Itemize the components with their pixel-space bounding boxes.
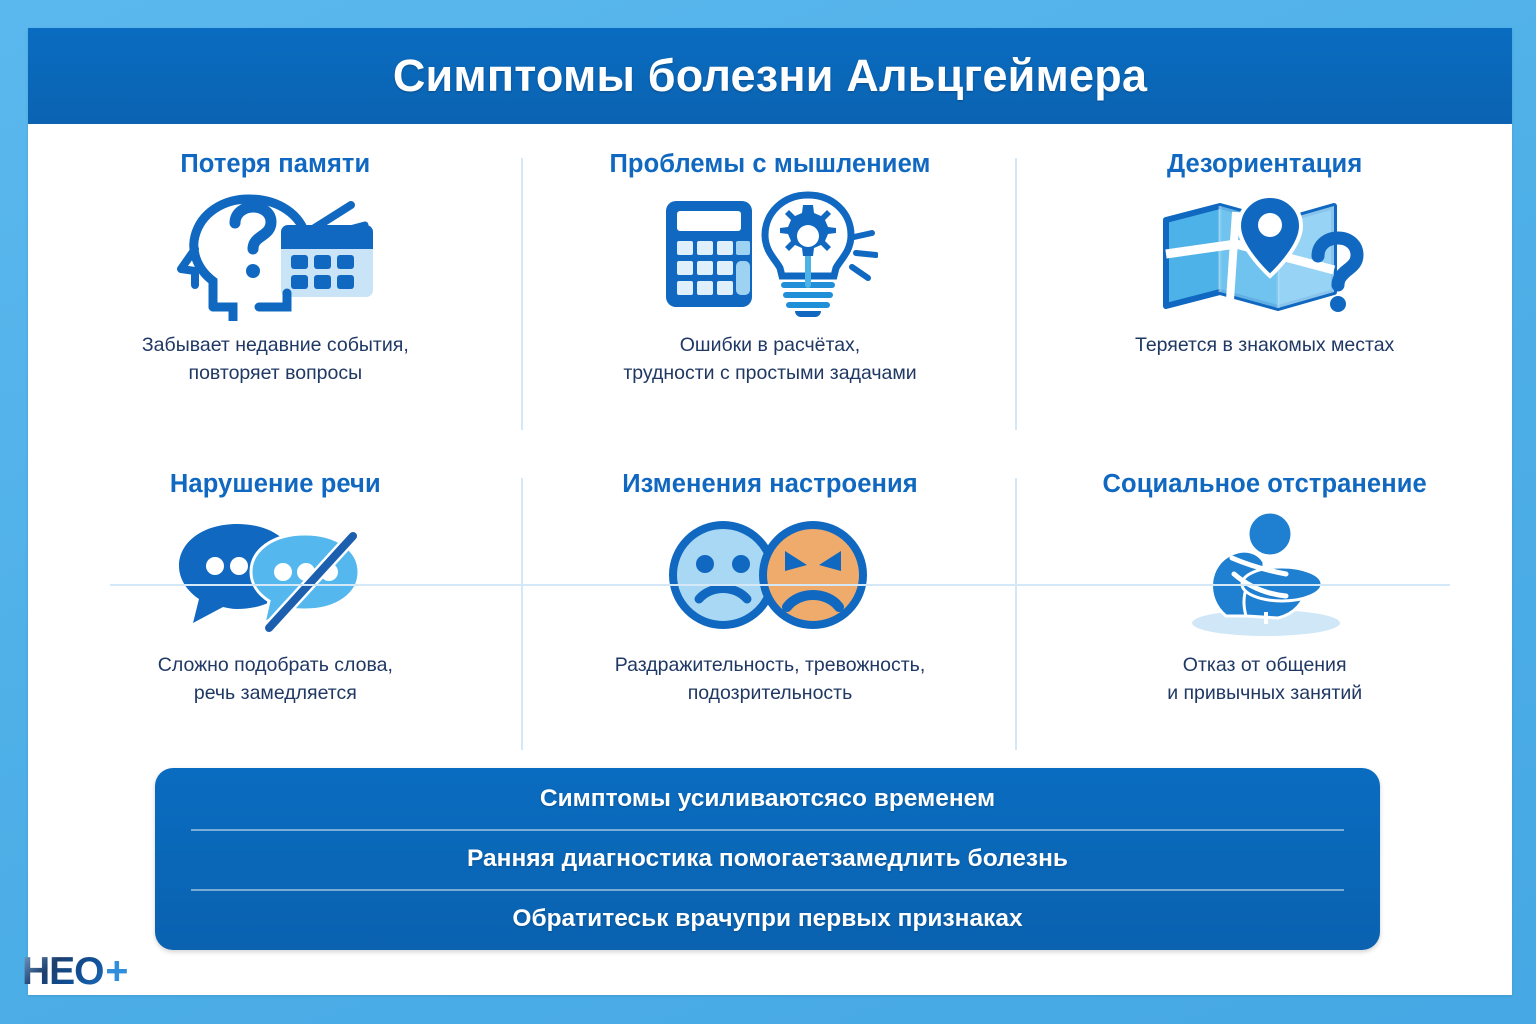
map-pin-question-icon bbox=[1158, 189, 1372, 321]
person-sitting-alone-icon bbox=[1170, 509, 1360, 641]
key-message-1-text: Симптомы усиливаются bbox=[540, 785, 838, 813]
infographic-frame: Симптомы болезни Альцгеймера Потеря памя… bbox=[0, 0, 1536, 1024]
symptom-title: Изменения настроения bbox=[622, 470, 918, 499]
key-message-3: Обратитесь к врачу при первых признаках bbox=[155, 889, 1380, 949]
calculator-lightbulb-gear-icon bbox=[662, 189, 878, 321]
symptom-title: Проблемы с мышлением bbox=[609, 150, 930, 179]
key-message-3-tail: при первых признаках bbox=[746, 905, 1022, 933]
row-divider bbox=[110, 584, 1450, 586]
symptom-title: Дезориентация bbox=[1167, 150, 1362, 179]
key-message-2-text: Ранняя диагностика помогает bbox=[467, 845, 830, 873]
symptom-title: Нарушение речи bbox=[170, 470, 381, 499]
key-message-1-bold: со временем bbox=[838, 785, 995, 813]
speech-bubbles-crossed-icon bbox=[175, 509, 375, 641]
symptom-description: Сложно подобрать слова,речь замедляется bbox=[158, 651, 393, 708]
symptom-title: Социальное отстранение bbox=[1103, 470, 1427, 499]
key-message-3-bold: к врачу bbox=[656, 905, 746, 933]
sad-angry-faces-icon bbox=[667, 509, 873, 641]
symptom-card-memory-loss[interactable]: Потеря памяти bbox=[28, 124, 523, 444]
symptom-description: Теряется в знакомых местах bbox=[1135, 331, 1394, 359]
key-message-1: Симптомы усиливаются со временем bbox=[155, 769, 1380, 829]
head-question-calendar-icon bbox=[175, 189, 375, 321]
symptom-description: Ошибки в расчётах,трудности с простыми з… bbox=[623, 331, 916, 388]
key-message-2: Ранняя диагностика помогает замедлить бо… bbox=[155, 829, 1380, 889]
symptom-card-thinking-problems[interactable]: Проблемы с мышлением bbox=[523, 124, 1018, 444]
key-messages-banner: Симптомы усиливаются со временем Ранняя … bbox=[155, 768, 1380, 950]
symptom-card-disorientation[interactable]: Дезориентация Теряется в знакомых местах bbox=[1017, 124, 1512, 444]
title-banner: Симптомы болезни Альцгеймера bbox=[28, 28, 1512, 124]
symptom-card-mood-changes[interactable]: Изменения настроения Раздражительность, … bbox=[523, 444, 1018, 764]
symptom-title: Потеря памяти bbox=[180, 150, 370, 179]
key-message-2-bold: замедлить болезнь bbox=[830, 845, 1068, 873]
symptom-card-speech-impairment[interactable]: Нарушение речи Сложно подобрать слова,ре… bbox=[28, 444, 523, 764]
symptom-description: Забывает недавние события,повторяет вопр… bbox=[142, 331, 409, 388]
logo-text: НЕО bbox=[22, 950, 104, 994]
logo-plus-icon: + bbox=[106, 950, 128, 994]
key-message-3-text: Обратитесь bbox=[512, 905, 656, 933]
symptom-description: Отказ от общенияи привычных занятий bbox=[1167, 651, 1362, 708]
brand-logo: НЕО+ bbox=[22, 950, 127, 994]
symptoms-grid: Потеря памяти bbox=[28, 124, 1512, 764]
page-title: Симптомы болезни Альцгеймера bbox=[393, 50, 1147, 102]
symptom-description: Раздражительность, тревожность,подозрите… bbox=[615, 651, 926, 708]
symptom-card-social-withdrawal[interactable]: Социальное отстранение Отказ от общенияи… bbox=[1017, 444, 1512, 764]
